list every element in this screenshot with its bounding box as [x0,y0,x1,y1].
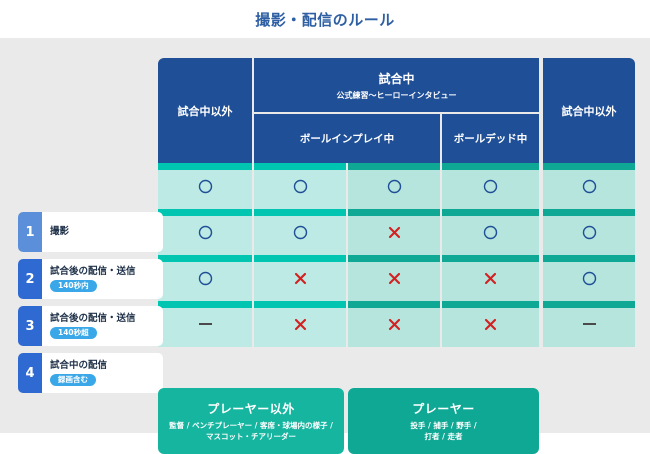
table-cell [348,163,440,209]
dash-mark-icon [583,323,596,325]
cell-mark [442,301,539,347]
cell-mark [543,255,635,301]
cell-mark [442,163,539,209]
cell-mark [158,301,252,347]
header-group-subtitle: 公式練習〜ヒーローインタビュー [337,90,457,101]
footer-title: プレーヤー以外 [207,400,295,417]
cross-mark-icon [294,318,307,331]
table-cell [158,163,252,209]
footer-box-non-player: プレーヤー以外 監督 / ベンチプレーヤー / 客席・球場内の様子 / マスコッ… [158,388,344,454]
footer-detail-line2: マスコット・チアリーダー [169,432,333,443]
cross-mark-icon [294,272,307,285]
table-body [158,163,635,347]
cell-mark [543,163,635,209]
table-cell [442,163,539,209]
table-cell [543,301,635,347]
circle-mark-icon [483,179,498,194]
header-group-ingame: 試合中 公式練習〜ヒーローインタビュー [254,58,539,112]
cell-mark [442,209,539,255]
cross-mark-icon [388,272,401,285]
row-label-text: 試合後の配信・送信140秒超 [50,306,160,346]
footer-detail: 監督 / ベンチプレーヤー / 客席・球場内の様子 / マスコット・チアリーダー [169,421,333,443]
row-label-text: 試合後の配信・送信140秒内 [50,259,160,299]
table-cell [158,209,252,255]
header-col-left-nongame: 試合中以外 [158,58,252,163]
cell-mark [543,301,635,347]
table-cell [254,163,346,209]
cross-mark-icon [484,318,497,331]
cell-mark [254,209,346,255]
table-cell [348,301,440,347]
circle-mark-icon [582,179,597,194]
footer-detail-line1: 投手 / 捕手 / 野手 / [410,421,476,432]
row-label-badge: 140秒超 [50,327,97,339]
row-label: 3試合後の配信・送信140秒超 [18,303,158,349]
cell-mark [442,255,539,301]
cell-mark [348,163,440,209]
row-label-main: 試合後の配信・送信 [50,266,160,277]
cross-mark-icon [484,272,497,285]
cell-mark [348,301,440,347]
row-label-main: 撮影 [50,226,160,237]
cell-mark [158,209,252,255]
row-label-main: 試合後の配信・送信 [50,313,160,324]
circle-mark-icon [198,179,213,194]
table-row [158,301,635,347]
row-label-text: 試合中の配信録画含む [50,353,160,393]
circle-mark-icon [293,225,308,240]
footer-detail-line2: 打者 / 走者 [410,432,476,443]
footer-detail-line1: 監督 / ベンチプレーヤー / 客席・球場内の様子 / [169,421,333,432]
table-cell [442,209,539,255]
rules-table: 試合中以外 試合中 公式練習〜ヒーローインタビュー ボールインプレイ中 ボールデ… [158,58,543,413]
row-label-badge: 録画含む [50,374,96,386]
cross-mark-icon [388,318,401,331]
row-label: 4試合中の配信録画含む [18,350,158,396]
row-number-badge: 3 [18,306,42,346]
header-subcol-ball-in-play: ボールインプレイ中 [254,114,440,163]
row-label-list: 1撮影2試合後の配信・送信140秒内3試合後の配信・送信140秒超4試合中の配信… [18,209,158,397]
cell-mark [158,163,252,209]
row-label-badge: 140秒内 [50,280,97,292]
table-cell [254,209,346,255]
cell-mark [254,163,346,209]
circle-mark-icon [483,225,498,240]
footer-box-player: プレーヤー 投手 / 捕手 / 野手 / 打者 / 走者 [348,388,539,454]
table-cell [543,209,635,255]
diagram-canvas: 試合中以外 試合中 公式練習〜ヒーローインタビュー ボールインプレイ中 ボールデ… [0,38,650,433]
dash-mark-icon [199,323,212,325]
table-cell [442,255,539,301]
circle-mark-icon [387,179,402,194]
row-label: 2試合後の配信・送信140秒内 [18,256,158,302]
table-cell [254,255,346,301]
table-row [158,163,635,209]
row-number-badge: 2 [18,259,42,299]
circle-mark-icon [198,271,213,286]
circle-mark-icon [198,225,213,240]
table-cell [348,255,440,301]
row-number-badge: 1 [18,212,42,252]
screenshot-root: 撮影・配信のルール 試合中以外 試合中 公式練習〜ヒーローインタビュー ボールイ… [0,0,650,433]
cell-mark [254,255,346,301]
row-label: 1撮影 [18,209,158,255]
circle-mark-icon [582,271,597,286]
row-number-badge: 4 [18,353,42,393]
table-row [158,255,635,301]
header-group-title: 試合中 [378,70,414,87]
cell-mark [348,255,440,301]
table-row [158,209,635,255]
table-footer: プレーヤー以外 監督 / ベンチプレーヤー / 客席・球場内の様子 / マスコッ… [158,388,635,454]
page-title: 撮影・配信のルール [255,9,395,30]
row-label-main: 試合中の配信 [50,360,160,371]
footer-title: プレーヤー [412,400,475,417]
footer-detail: 投手 / 捕手 / 野手 / 打者 / 走者 [410,421,476,443]
cell-mark [158,255,252,301]
header-col-right-nongame: 試合中以外 [543,58,635,163]
header-subcol-ball-dead: ボールデッド中 [442,114,539,163]
cross-mark-icon [388,226,401,239]
table-cell [254,301,346,347]
table-cell [158,255,252,301]
table-header: 試合中以外 試合中 公式練習〜ヒーローインタビュー ボールインプレイ中 ボールデ… [158,58,543,163]
page-title-bar: 撮影・配信のルール [0,0,650,38]
table-cell [348,209,440,255]
cell-mark [348,209,440,255]
circle-mark-icon [293,179,308,194]
table-cell [543,163,635,209]
table-cell [543,255,635,301]
table-cell [158,301,252,347]
circle-mark-icon [582,225,597,240]
cell-mark [254,301,346,347]
table-cell [442,301,539,347]
row-label-text: 撮影 [50,212,160,252]
cell-mark [543,209,635,255]
